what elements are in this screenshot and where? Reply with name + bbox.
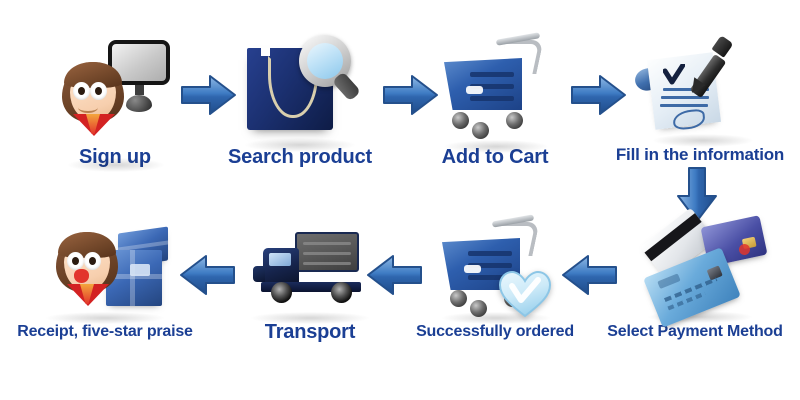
happy-girl-avatar-icon	[56, 232, 118, 317]
cart-heart-icon	[400, 218, 590, 320]
checkmark-icon	[663, 64, 683, 84]
step-add-to-cart[interactable]: Add to Cart	[400, 30, 590, 169]
delivery-truck-icon	[215, 222, 405, 320]
shopping-bag-magnifier-icon	[205, 30, 395, 145]
step-label-select-payment-method: Select Payment Method	[600, 320, 790, 344]
flowchart-canvas: Sign up	[0, 0, 800, 400]
package-label	[130, 264, 150, 276]
credit-cards-icon	[600, 215, 790, 320]
step-successfully-ordered[interactable]: Successfully ordered	[400, 218, 590, 344]
step-fill-in-the-information[interactable]: Fill in the information	[605, 28, 795, 167]
step-select-payment-method[interactable]: Select Payment Method	[600, 215, 790, 344]
step-transport[interactable]: Transport	[215, 222, 405, 344]
girl-avatar-icon	[62, 62, 124, 147]
heart-icon	[498, 270, 544, 312]
document-pen-icon	[605, 28, 795, 143]
happy-customer-package-icon	[10, 222, 200, 320]
step-receipt-five-star-praise[interactable]: Receipt, five-star praise	[10, 222, 200, 344]
shopping-cart-icon	[400, 30, 590, 145]
step-search-product[interactable]: Search product	[205, 30, 395, 169]
